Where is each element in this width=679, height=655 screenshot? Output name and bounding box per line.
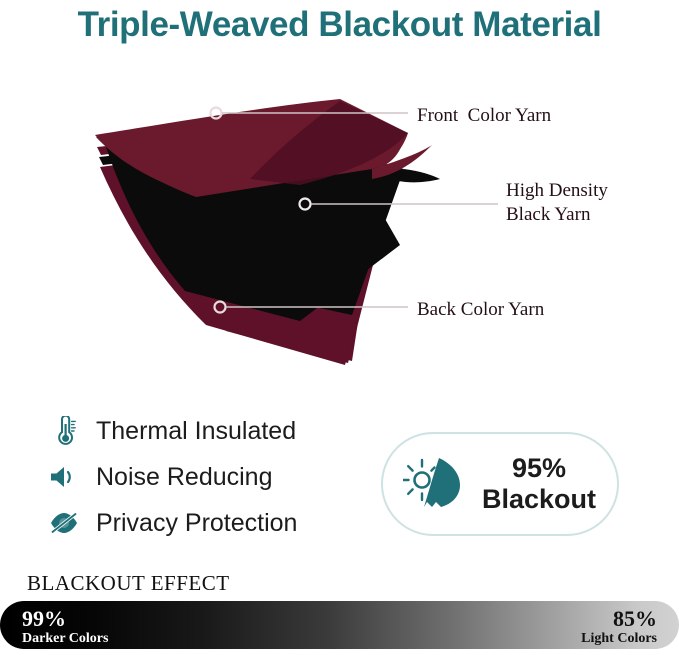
badge-percent: 95% (512, 453, 566, 483)
speaker-sound-icon (44, 460, 84, 494)
gradient-right-percent: 85% (581, 607, 657, 631)
thermometer-icon (44, 414, 84, 448)
page-title: Triple-Weaved Blackout Material (0, 0, 679, 50)
blackout-effect-gradient-bar: 99% Darker Colors 85% Light Colors (0, 601, 679, 649)
blackout-badge: 95% Blackout (381, 432, 619, 536)
feature-label: Thermal Insulated (96, 417, 296, 446)
sun-blocked-by-curtain-icon (399, 452, 471, 516)
gradient-left-label: Darker Colors (22, 631, 108, 647)
gradient-left-stat: 99% Darker Colors (22, 607, 108, 647)
feature-label: Noise Reducing (96, 463, 273, 492)
feature-row-noise: Noise Reducing (44, 454, 374, 500)
gradient-right-label: Light Colors (581, 631, 657, 647)
gradient-left-percent: 99% (22, 607, 108, 631)
callout-label-front: Front Color Yarn (417, 104, 551, 128)
callout-label-middle: High Density Black Yarn (506, 179, 608, 227)
feature-row-privacy: Privacy Protection (44, 500, 374, 546)
fabric-black-tip (398, 169, 440, 182)
feature-label: Privacy Protection (96, 509, 297, 538)
gradient-right-stat: 85% Light Colors (581, 607, 657, 647)
blackout-effect-heading: BLACKOUT EFFECT (27, 571, 230, 596)
callout-label-back: Back Color Yarn (417, 298, 544, 322)
eye-slash-icon (44, 506, 84, 540)
feature-row-thermal: Thermal Insulated (44, 408, 374, 454)
badge-text: 95% Blackout (471, 453, 617, 515)
features-list: Thermal Insulated Noise Reducing Privacy… (44, 408, 374, 546)
badge-label: Blackout (482, 484, 596, 514)
